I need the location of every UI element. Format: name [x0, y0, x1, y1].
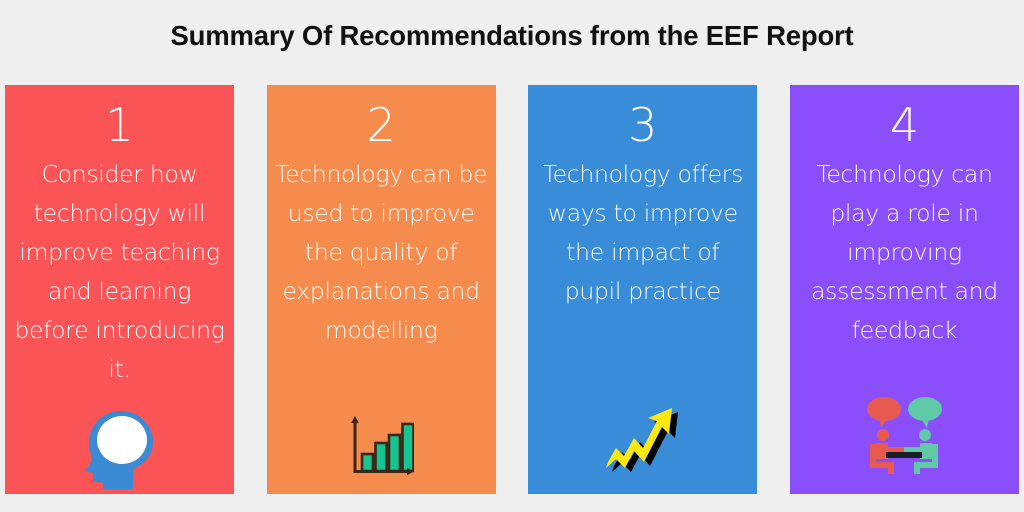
growth-arrow-icon: [528, 406, 757, 472]
card-number-2: 2: [367, 97, 396, 153]
infographic-root: Summary Of Recommendations from the EEF …: [0, 0, 1024, 512]
two-people-discussion-icon: [790, 396, 1019, 474]
card-number-3: 3: [628, 97, 657, 153]
card-text-1: Consider how technology will improve tea…: [13, 155, 226, 389]
card-text-2: Technology can be used to improve the qu…: [275, 155, 488, 350]
head-profile-brain-icon: [5, 409, 234, 489]
card-text-3: Technology offers ways to improve the im…: [536, 155, 749, 311]
card-text-4: Technology can play a role in improving …: [798, 155, 1011, 350]
page-title: Summary Of Recommendations from the EEF …: [0, 20, 1024, 52]
recommendation-card-4[interactable]: 4 Technology can play a role in improvin…: [790, 85, 1019, 494]
card-number-4: 4: [890, 97, 919, 153]
recommendation-card-1[interactable]: 1 Consider how technology will improve t…: [5, 85, 234, 494]
recommendation-card-2[interactable]: 2 Technology can be used to improve the …: [267, 85, 496, 494]
bar-chart-icon: [267, 416, 496, 478]
recommendation-card-3[interactable]: 3 Technology offers ways to improve the …: [528, 85, 757, 494]
recommendation-cards: 1 Consider how technology will improve t…: [5, 85, 1019, 494]
card-number-1: 1: [105, 97, 134, 153]
